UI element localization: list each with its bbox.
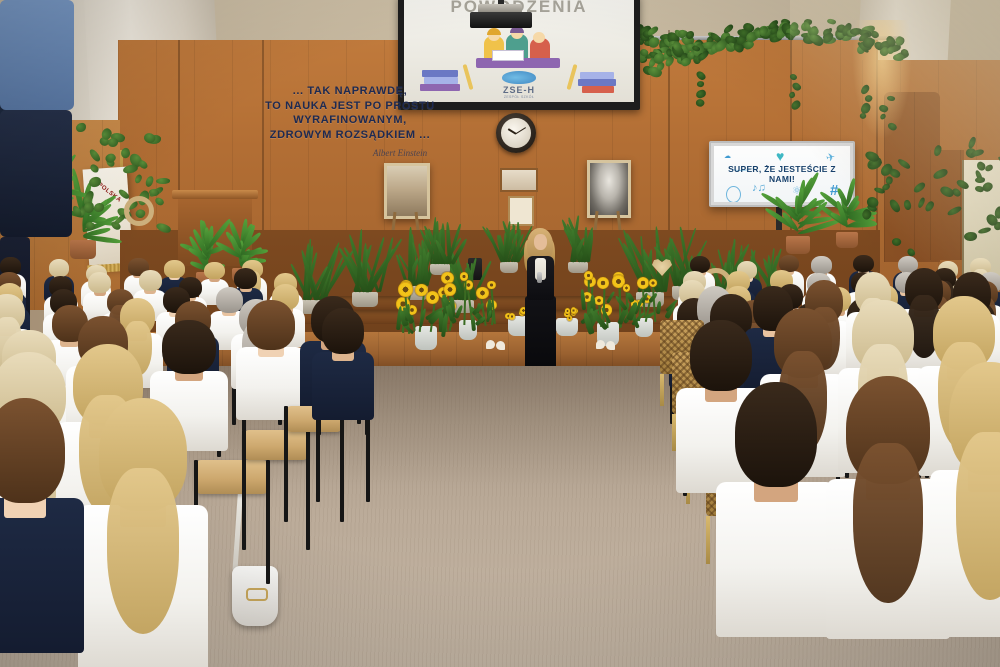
head — [853, 255, 873, 273]
head — [247, 300, 295, 350]
long-hair — [853, 443, 922, 603]
photo-scene: POWODZENIA ZSE-H ZESPÓŁ SZKÓŁ — [0, 0, 1000, 667]
white-shirt — [716, 482, 836, 637]
dark-jacket — [0, 498, 84, 653]
chair-backrest[interactable] — [244, 430, 308, 460]
handbag — [232, 566, 278, 626]
head — [164, 260, 184, 278]
head — [735, 382, 817, 487]
chair-leg — [242, 430, 246, 550]
chair-leg — [266, 460, 270, 584]
chair-leg — [340, 406, 344, 522]
chair-leg — [284, 406, 288, 522]
dark-trousers — [0, 110, 72, 237]
head — [49, 259, 69, 277]
chair-leg — [660, 374, 664, 406]
long-hair — [107, 468, 180, 634]
audience-person — [930, 362, 1000, 632]
dark-jacket — [312, 352, 374, 420]
audience-person — [78, 398, 208, 666]
head — [162, 320, 215, 374]
chair-leg — [706, 516, 710, 564]
audience-person — [236, 300, 306, 418]
head — [690, 320, 751, 391]
jeans — [0, 0, 74, 110]
chair-leg — [306, 430, 310, 550]
head — [322, 308, 364, 354]
head — [811, 256, 831, 274]
handbag-clasp — [246, 588, 268, 601]
head — [0, 398, 65, 503]
audience-person — [716, 382, 836, 632]
audience-person — [312, 308, 374, 418]
audience-person — [0, 398, 84, 648]
head — [234, 268, 257, 289]
